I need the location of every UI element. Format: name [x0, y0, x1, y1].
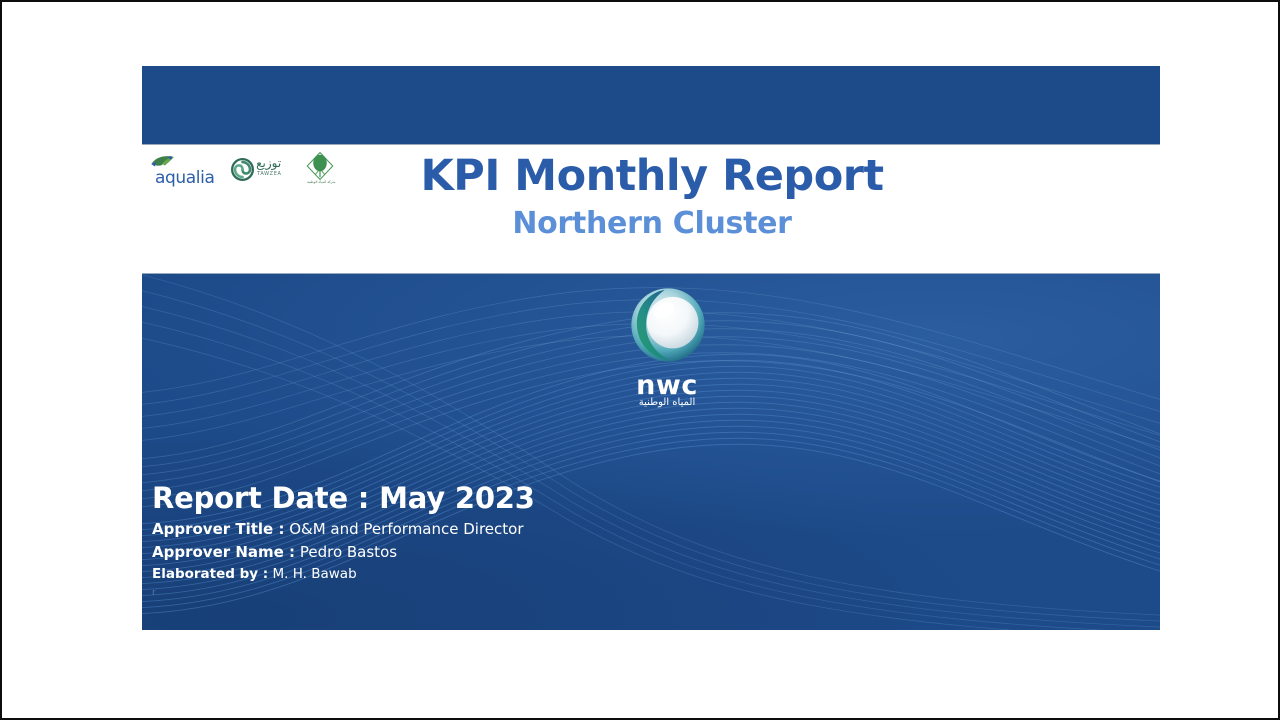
nwc-wordmark: nwc	[612, 372, 722, 399]
tawzea-knot-icon	[231, 158, 254, 181]
nwc-logo: nwc المياه الوطنية	[612, 286, 722, 416]
partner-logo-tawzea: توزيع TAWZEA	[231, 154, 286, 188]
top-banner-bar	[142, 66, 1160, 144]
elaborated-by-label: Elaborated by :	[152, 566, 268, 582]
page-title: KPI Monthly Report	[342, 154, 962, 199]
main-blue-panel: nwc المياه الوطنية Report Date : May 202…	[142, 274, 1160, 630]
slide-frame: aqualia توزيع TAWZEA شركة المياه الوطنية…	[0, 0, 1280, 720]
approver-title-value: O&M and Performance Director	[289, 520, 523, 538]
third-partner-caption: شركة المياه الوطنية	[300, 181, 342, 184]
partner-logo-strip: aqualia توزيع TAWZEA شركة المياه الوطنية	[149, 150, 339, 192]
credits-block: Report Date : May 2023 Approver Title : …	[152, 481, 752, 598]
approver-name-row: Approver Name : Pedro Bastos	[152, 543, 752, 562]
approver-name-label: Approver Name :	[152, 543, 295, 561]
tawzea-arabic-wordmark: توزيع	[256, 157, 281, 169]
partner-logo-third: شركة المياه الوطنية	[300, 151, 339, 191]
elaborated-by-row: Elaborated by : M. H. Bawab	[152, 566, 752, 583]
approver-title-label: Approver Title :	[152, 520, 284, 538]
aqualia-fish-leaf-icon	[150, 154, 176, 168]
elaborated-by-value: M. H. Bawab	[273, 566, 357, 582]
tawzea-latin-wordmark: TAWZEA	[257, 172, 281, 177]
page-subtitle: Northern Cluster	[342, 208, 962, 240]
nwc-sphere-icon	[629, 286, 707, 364]
nwc-arabic-wordmark: المياه الوطنية	[612, 398, 722, 408]
approver-name-value: Pedro Bastos	[300, 543, 397, 561]
report-date: Report Date : May 2023	[152, 481, 752, 516]
aqualia-wordmark: aqualia	[155, 170, 214, 187]
approver-title-row: Approver Title : O&M and Performance Dir…	[152, 520, 752, 539]
green-tree-diamond-icon	[305, 151, 335, 181]
trailing-mark: r	[152, 589, 752, 598]
partner-logo-aqualia: aqualia	[149, 154, 217, 188]
title-block: KPI Monthly Report Northern Cluster	[342, 154, 962, 240]
